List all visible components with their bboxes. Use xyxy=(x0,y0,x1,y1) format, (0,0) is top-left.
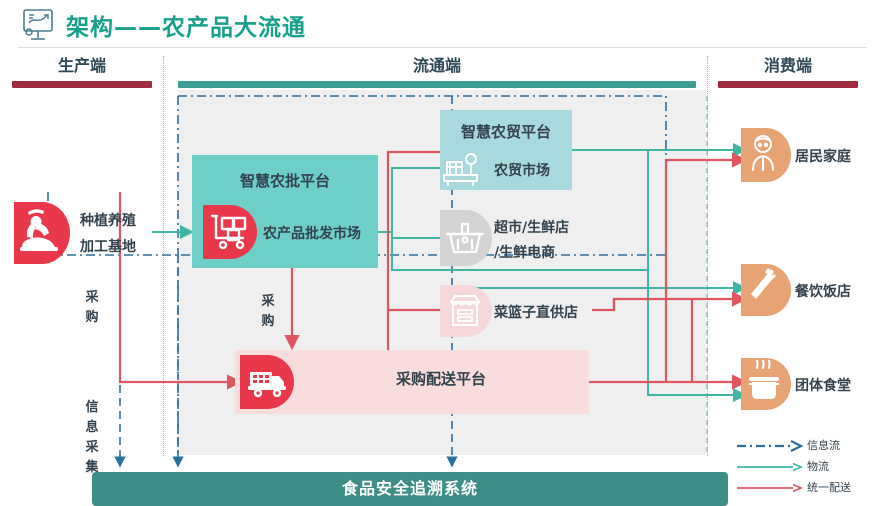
shopping-basket-icon xyxy=(440,210,492,266)
supermarket-line2: /生鲜电商 xyxy=(494,241,569,266)
platform-delivery-title: 采购配送平台 xyxy=(396,368,486,390)
node-household-label: 居民家庭 xyxy=(795,146,851,168)
cooking-pot-icon xyxy=(741,358,791,410)
flow-label-procurement-1: 采购 xyxy=(82,288,102,328)
hand-truck-boxes-icon xyxy=(203,205,257,259)
presentation-board-icon xyxy=(20,8,58,42)
supermarket-line1: 超市/生鲜店 xyxy=(494,216,569,241)
header-divider xyxy=(18,47,867,48)
column-bar-circulation xyxy=(178,81,696,88)
legend: 信息流 物流 统一配送 xyxy=(735,438,880,496)
flow-label-procurement-1-text: 采购 xyxy=(85,290,98,325)
fork-utensil-icon xyxy=(741,264,791,316)
column-header-circulation: 流通端 xyxy=(178,56,696,88)
storefront-icon xyxy=(440,285,492,337)
legend-swatch-info-flow xyxy=(735,438,803,454)
page-header: 架构——农产品大流通 xyxy=(0,0,885,48)
legend-swatch-unified-delivery xyxy=(735,480,803,496)
legend-item-logistics: 物流 xyxy=(735,459,880,475)
column-label-consumption: 消费端 xyxy=(718,56,858,76)
node-production-base-icon xyxy=(14,202,70,264)
column-header-consumption: 消费端 xyxy=(718,56,858,88)
legend-label-unified-delivery: 统一配送 xyxy=(807,480,851,496)
platform-wholesale-item-label: 农产品批发市场 xyxy=(263,223,361,245)
legend-item-unified-delivery: 统一配送 xyxy=(735,480,880,496)
diagram-canvas: 架构——农产品大流通 生产端 流通端 消费端 xyxy=(0,0,885,500)
node-direct-store-label: 菜篮子直供店 xyxy=(494,302,578,324)
node-supermarket-label: 超市/生鲜店 /生鲜电商 xyxy=(494,216,569,266)
node-restaurant-label: 餐饮饭店 xyxy=(795,281,851,303)
column-divider-right xyxy=(707,56,708,456)
weighing-scale-icon xyxy=(440,150,484,190)
resident-person-icon xyxy=(741,128,791,182)
production-base-line2: 加工基地 xyxy=(80,234,136,260)
flow-label-procurement-2-text: 采购 xyxy=(261,294,274,329)
column-label-circulation: 流通端 xyxy=(178,56,696,76)
column-bar-production xyxy=(12,81,152,88)
node-canteen-label: 团体食堂 xyxy=(795,375,851,397)
legend-label-info-flow: 信息流 xyxy=(807,438,840,454)
page-title: 架构——农产品大流通 xyxy=(66,8,306,42)
platform-farmers-market-item-label: 农贸市场 xyxy=(494,160,550,182)
production-base-line1: 种植养殖 xyxy=(80,208,136,234)
column-header-production: 生产端 xyxy=(12,56,152,88)
legend-item-info-flow: 信息流 xyxy=(735,438,880,454)
column-label-production: 生产端 xyxy=(12,56,152,76)
platform-farmers-market-title: 智慧农贸平台 xyxy=(440,121,572,142)
delivery-truck-icon xyxy=(240,355,294,409)
platform-wholesale-title: 智慧农批平台 xyxy=(192,170,378,191)
flow-label-info-collection-text: 信息采集 xyxy=(85,400,98,475)
flow-label-procurement-2: 采购 xyxy=(258,292,278,332)
flow-label-info-collection: 信息采集 xyxy=(82,398,102,478)
legend-swatch-logistics xyxy=(735,459,803,475)
column-bar-consumption xyxy=(718,81,858,88)
legend-label-logistics: 物流 xyxy=(807,459,829,475)
column-divider-left xyxy=(163,56,164,456)
node-production-base-label: 种植养殖 加工基地 xyxy=(80,208,136,260)
traceability-system-label: 食品安全追溯系统 xyxy=(92,472,728,506)
